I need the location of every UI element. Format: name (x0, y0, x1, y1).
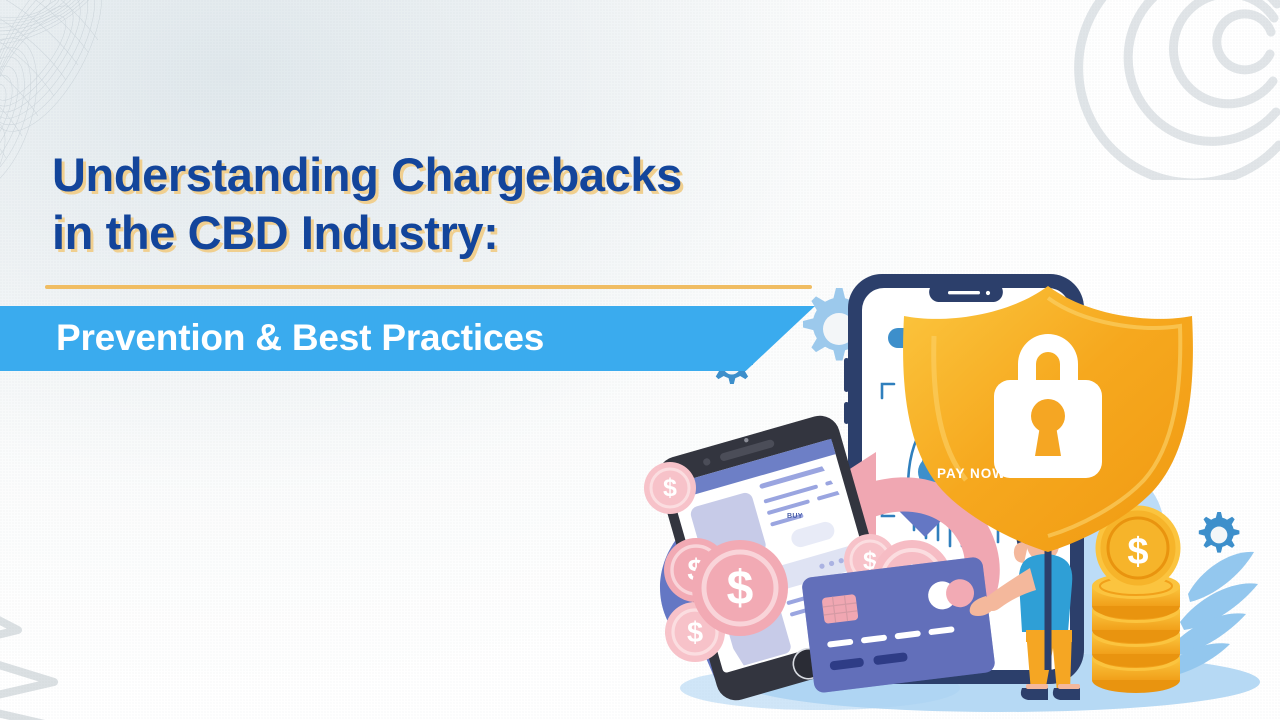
concentric-spiral-decoration (1074, 0, 1280, 180)
svg-text:$: $ (687, 617, 703, 649)
svg-text:$: $ (727, 562, 754, 615)
subtitle-text: Prevention & Best Practices (56, 306, 544, 371)
gear-blue-small-icon (1199, 512, 1240, 553)
zigzag-scribble-decoration (0, 574, 218, 720)
gold-coin-stack: $ (1092, 508, 1180, 693)
credit-card (801, 556, 996, 693)
banner-root: Understanding Chargebacks in the CBD Ind… (0, 0, 1280, 720)
svg-text:$: $ (1127, 531, 1148, 573)
buy-label[interactable]: BUY (787, 513, 803, 520)
card-chip (822, 594, 859, 624)
title-divider-rule (45, 285, 812, 289)
subtitle-banner: Prevention & Best Practices (0, 306, 815, 371)
pay-now-label[interactable]: PAY NOW (937, 466, 1006, 481)
page-title: Understanding Chargebacks in the CBD Ind… (52, 146, 842, 262)
svg-text:$: $ (663, 474, 677, 502)
